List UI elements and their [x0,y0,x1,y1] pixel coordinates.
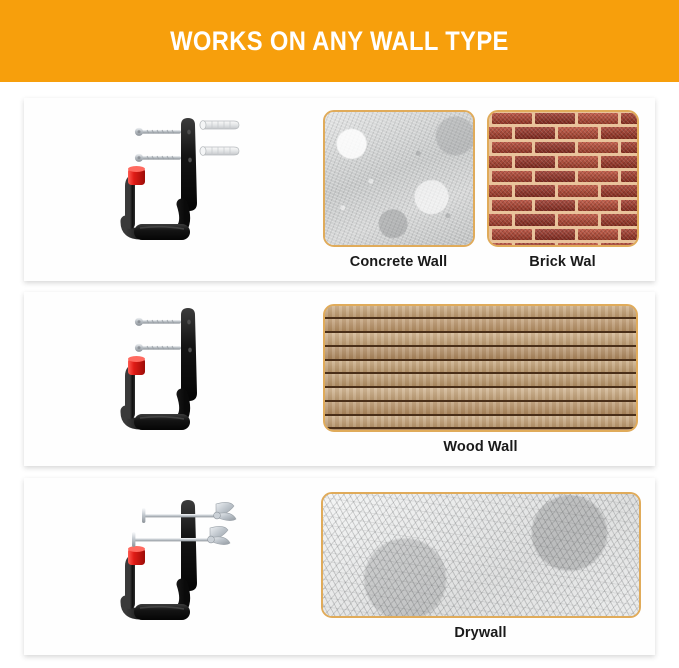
brick-unit [515,127,555,139]
brick-unit [558,127,598,139]
brick-unit [492,113,532,125]
brick-row [489,170,637,185]
panel-card-wood: Wood Wall [24,292,655,466]
wood-wall-label: Wood Wall [443,439,517,455]
brick-unit [558,185,598,197]
brick-unit [535,200,575,212]
panel-card-concrete-brick: Concrete Wall Brick Wal [24,98,655,281]
brick-unit [535,171,575,183]
concrete-texture [325,112,473,245]
swatch-group-drywall: Drywall [306,478,655,655]
concrete-wall-swatch [323,110,475,247]
brick-unit [558,243,598,246]
brick-unit [487,127,512,139]
brick-unit [601,214,639,226]
brick-unit [578,229,618,241]
header-banner: WORKS ON ANY WALL TYPE [0,0,679,82]
swatch-item-brick: Brick Wal [487,110,639,270]
brick-unit [601,127,639,139]
screw-lower [135,344,181,352]
brick-row [489,155,637,170]
brick-unit [621,229,639,241]
brick-unit [487,185,512,197]
brick-unit [621,171,639,183]
brick-unit [578,142,618,154]
brick-unit [515,156,555,168]
wood-plank [325,333,636,347]
brick-row [489,213,637,228]
brick-unit [492,171,532,183]
page-title: WORKS ON ANY WALL TYPE [170,26,509,57]
brick-unit [601,156,639,168]
hook-red-cap-top [128,166,145,172]
drywall-label: Drywall [454,625,506,641]
hook-illustration-drywall [24,478,306,655]
brick-unit [487,200,489,212]
hook-screw-hole-lower [188,348,192,353]
brick-unit [558,214,598,226]
wood-plank [325,306,636,320]
brick-unit [578,171,618,183]
hook-illustration-concrete-brick [24,98,306,281]
hook-mounting-arm [181,500,197,591]
brick-row [489,242,637,247]
brick-unit [492,142,532,154]
hook-with-screws-and-anchors-graphic [116,112,246,262]
brick-unit [487,113,489,125]
brick-unit [578,113,618,125]
swatch-group-wood: Wood Wall [306,292,655,466]
hook-screw-hole-upper [187,320,191,325]
wall-anchor-lower [200,147,239,156]
swatch-group-concrete-brick: Concrete Wall Brick Wal [306,98,655,281]
brick-unit [487,214,512,226]
wood-plank [325,402,636,416]
screw-upper [135,128,181,136]
brick-row [489,184,637,199]
brick-unit [535,229,575,241]
wood-plank [325,374,636,388]
brick-row [489,228,637,243]
brick-unit [487,171,489,183]
brick-unit [621,142,639,154]
concrete-wall-label: Concrete Wall [350,254,447,270]
wood-plank [325,416,636,430]
drywall-swatch [321,492,641,618]
infographic-page: WORKS ON ANY WALL TYPE [0,0,679,668]
hook-with-screws-graphic [116,302,246,452]
brick-unit [535,113,575,125]
brick-unit [515,214,555,226]
hook-illustration-wood [24,292,306,466]
wood-plank [325,361,636,375]
brick-unit [558,156,598,168]
brick-row [489,199,637,214]
wall-anchor-upper [200,121,239,130]
brick-unit [487,156,512,168]
wood-texture [325,306,636,430]
brick-unit [621,200,639,212]
hook-with-toggle-bolts-graphic [116,490,266,642]
brick-unit [578,200,618,212]
brick-row [489,141,637,156]
swatch-item-concrete: Concrete Wall [323,110,475,270]
hook-red-cap-top [128,356,145,362]
brick-unit [601,243,639,246]
panel-card-drywall: Drywall [24,478,655,655]
brick-wall-label: Brick Wal [529,254,595,270]
swatch-item-wood: Wood Wall [323,304,638,455]
hook-red-cap-top [128,546,145,552]
wood-plank [325,319,636,333]
brick-unit [621,113,639,125]
screw-upper [135,318,181,326]
brick-unit [487,243,512,246]
wood-plank [325,347,636,361]
brick-texture [489,112,637,245]
hook-screw-hole-upper [187,130,191,135]
wood-wall-swatch [323,304,638,432]
brick-unit [601,185,639,197]
drywall-texture [323,494,639,616]
brick-unit [535,142,575,154]
wood-plank [325,388,636,402]
brick-unit [515,243,555,246]
brick-unit [492,229,532,241]
screw-lower [135,154,181,162]
brick-unit [515,185,555,197]
brick-unit [487,229,489,241]
swatch-item-drywall: Drywall [321,492,641,641]
hook-screw-hole-lower [188,158,192,163]
brick-unit [492,200,532,212]
brick-row [489,126,637,141]
brick-wall-swatch [487,110,639,247]
brick-row [489,112,637,127]
brick-unit [487,142,489,154]
